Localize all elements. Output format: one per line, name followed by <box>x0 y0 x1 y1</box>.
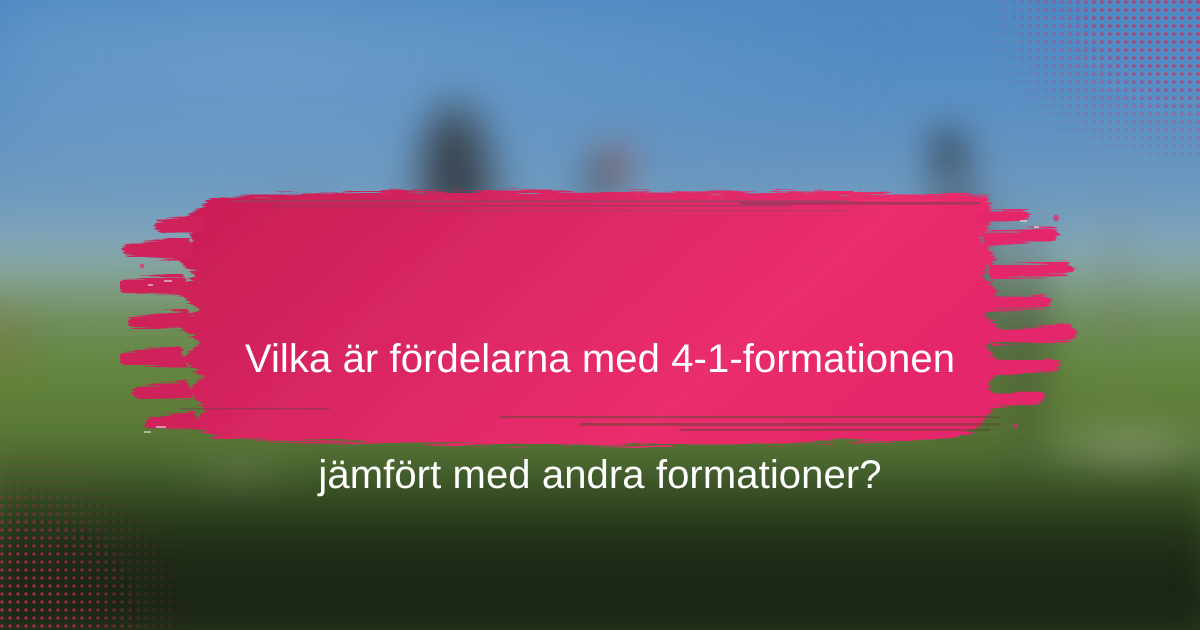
social-card: Vilka är fördelarna med 4-1-formationen … <box>0 0 1200 630</box>
headline-line-2: jämfört med andra formationer? <box>0 446 1200 504</box>
headline-line-1: Vilka är fördelarna med 4-1-formationen <box>0 330 1200 388</box>
page-title: Vilka är fördelarna med 4-1-formationen … <box>0 272 1200 562</box>
